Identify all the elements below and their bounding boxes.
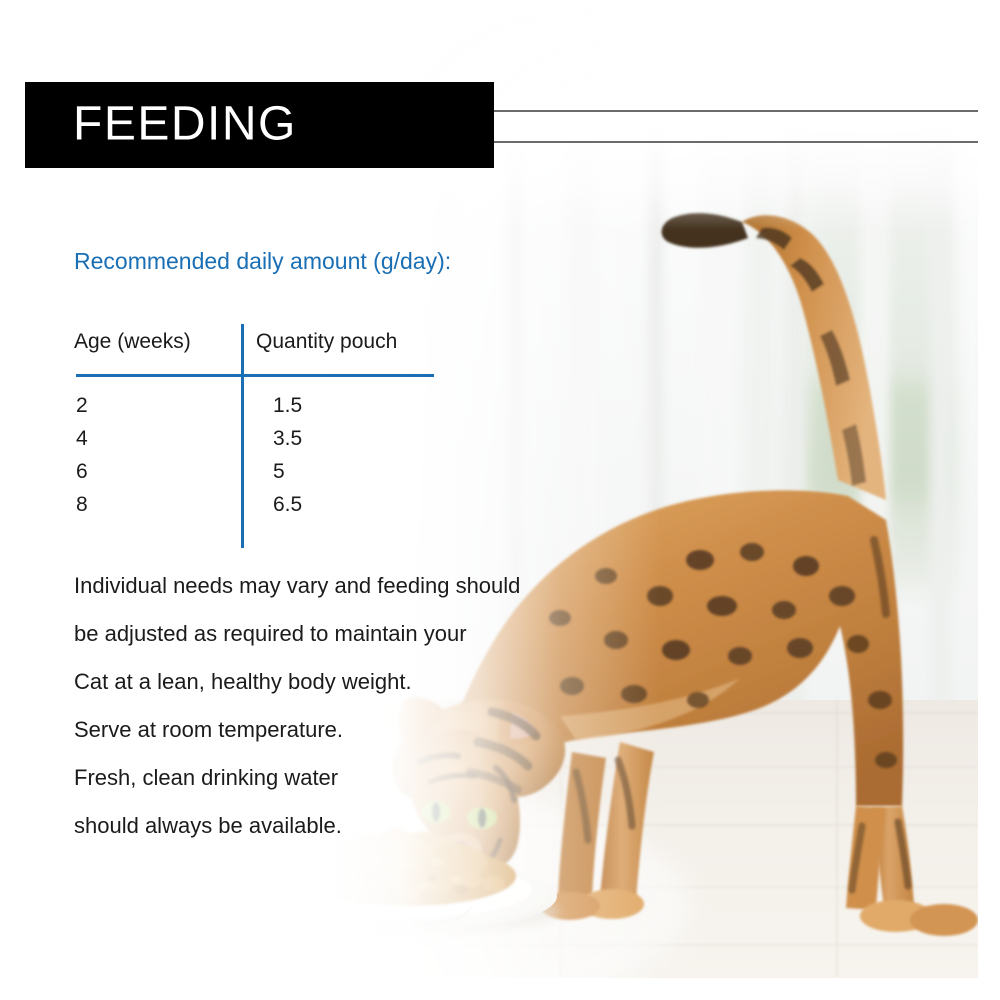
instruction-line: Fresh, clean drinking water [74, 754, 634, 802]
table-row: 4 3.5 [74, 427, 454, 460]
column-header-quantity: Quantity pouch [256, 330, 397, 354]
cell-quantity: 1.5 [273, 394, 302, 418]
cell-age: 4 [76, 427, 88, 451]
instruction-line: should always be available. [74, 802, 634, 850]
cell-quantity: 5 [273, 460, 285, 484]
table-body: 2 1.5 4 3.5 6 5 8 6.5 [74, 394, 454, 526]
instruction-line: Individual needs may vary and feeding sh… [74, 562, 634, 610]
cell-age: 8 [76, 493, 88, 517]
page-title: FEEDING [73, 96, 297, 151]
cell-age: 2 [76, 394, 88, 418]
instruction-line: be adjusted as required to maintain your [74, 610, 634, 658]
header-rule-top [494, 110, 978, 112]
feeding-table: Age (weeks) Quantity pouch 2 1.5 4 3.5 6… [74, 330, 454, 372]
table-header-underline [76, 374, 434, 377]
cell-quantity: 3.5 [273, 427, 302, 451]
cell-quantity: 6.5 [273, 493, 302, 517]
header-rule-bottom [494, 141, 978, 143]
section-title-banner: FEEDING [25, 82, 494, 168]
recommended-amount-label: Recommended daily amount (g/day): [74, 248, 451, 275]
table-row: 8 6.5 [74, 493, 454, 526]
cell-age: 6 [76, 460, 88, 484]
instruction-line: Cat at a lean, healthy body weight. [74, 658, 634, 706]
table-row: 2 1.5 [74, 394, 454, 427]
feeding-instructions: Individual needs may vary and feeding sh… [74, 562, 634, 850]
table-header-row: Age (weeks) Quantity pouch [74, 330, 454, 372]
column-header-age: Age (weeks) [74, 330, 191, 354]
instruction-line: Serve at room temperature. [74, 706, 634, 754]
feeding-infographic-page: FEEDING Recommended daily amount (g/day)… [0, 0, 1000, 1000]
table-row: 6 5 [74, 460, 454, 493]
